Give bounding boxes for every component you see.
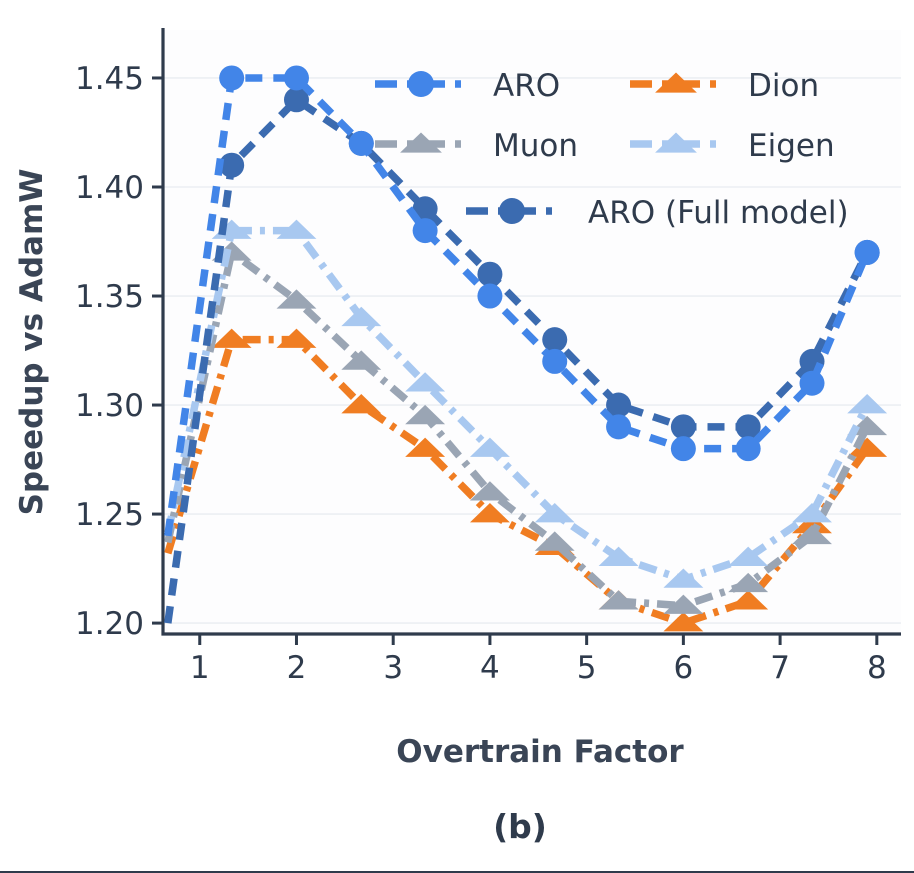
y-tick-label-3: 1.35 — [75, 279, 144, 315]
legend-label-muon: Muon — [493, 128, 578, 164]
x-tick-label-5: 6 — [674, 650, 694, 686]
data-point — [606, 414, 631, 439]
x-tick-label-2: 3 — [383, 650, 403, 686]
y-tick-label-0: 1.20 — [75, 606, 144, 642]
speedup-vs-adamw-chart: 1.201.251.301.351.401.4512345678Overtrai… — [0, 0, 914, 873]
x-tick-label-4: 5 — [577, 650, 597, 686]
legend-marker-aro — [408, 71, 434, 97]
legend-label-dion: Dion — [748, 68, 819, 104]
data-point — [477, 262, 502, 287]
y-axis-title: Speedup vs AdamW — [14, 169, 50, 516]
y-tick-label-1: 1.25 — [75, 497, 144, 533]
data-point — [800, 371, 825, 396]
data-point — [284, 65, 309, 90]
plot-area-background — [163, 30, 901, 634]
legend-label-aro-full-model: ARO (Full model) — [588, 195, 849, 231]
panel-label: (b) — [493, 807, 547, 846]
data-point — [855, 240, 880, 265]
legend-label-aro: ARO — [493, 68, 560, 104]
x-tick-label-1: 2 — [287, 650, 307, 686]
y-tick-label-4: 1.40 — [75, 170, 144, 206]
x-tick-label-6: 7 — [770, 650, 790, 686]
data-point — [671, 436, 696, 461]
data-point — [671, 414, 696, 439]
data-point — [349, 131, 374, 156]
data-point — [413, 218, 438, 243]
data-point — [736, 436, 761, 461]
legend-label-eigen: Eigen — [748, 128, 835, 164]
data-point — [219, 65, 244, 90]
legend-marker-aro-full-model — [499, 198, 525, 224]
x-tick-label-3: 4 — [480, 650, 500, 686]
figure-panel-b: 1.201.251.301.351.401.4512345678Overtrai… — [0, 0, 914, 873]
data-point — [477, 284, 502, 309]
y-tick-label-2: 1.30 — [75, 388, 144, 424]
data-point — [542, 349, 567, 374]
x-axis-title: Overtrain Factor — [396, 734, 684, 770]
x-tick-label-0: 1 — [190, 650, 210, 686]
x-tick-label-7: 8 — [867, 650, 887, 686]
y-tick-label-5: 1.45 — [75, 61, 144, 97]
